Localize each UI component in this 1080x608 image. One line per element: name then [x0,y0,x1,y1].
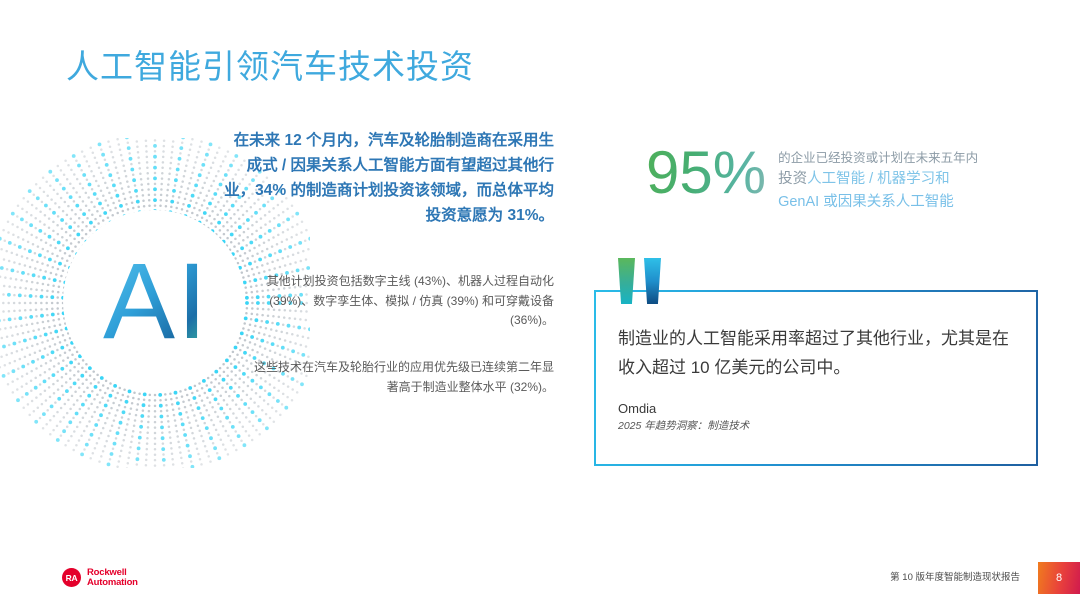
lead-paragraph: 在未来 12 个月内，汽车及轮胎制造商在采用生成式 / 因果关系人工智能方面有望… [224,128,554,228]
rockwell-automation-logo: RA Rockwell Automation [62,568,138,587]
stat-line-2-prefix: 投资 [778,171,807,187]
stat-block: 95% 的企业已经投资或计划在未来五年内 投资人工智能 / 机器学习和 GenA… [646,142,1066,213]
quote-text: 制造业的人工智能采用率超过了其他行业，尤其是在收入超过 10 亿美元的公司中。 [618,324,1018,382]
stat-line-1: 的企业已经投资或计划在未来五年内 [778,148,978,168]
slide-canvas: 人工智能引领汽车技术投资 AI 在未来 12 个月内，汽车及轮胎制造商在采用生成… [0,0,1080,608]
quote-card: 制造业的人工智能采用率超过了其他行业，尤其是在收入超过 10 亿美元的公司中。 … [594,290,1038,466]
quotation-bar-right [644,258,661,304]
footer-caption: 第 10 版年度智能制造现状报告 [890,569,1020,583]
quote-source-name: Omdia [618,400,749,418]
quotation-mark-icon [618,258,674,304]
stat-line-3: GenAI 或因果关系人工智能 [778,191,978,214]
stat-value: 95% [646,142,778,204]
ai-core-circle: AI [63,210,245,392]
sub-paragraph-2: 这些技术在汽车及轮胎行业的应用优先级已连续第二年显著高于制造业整体水平 (32%… [254,358,554,397]
quote-source: Omdia 2025 年趋势洞察：制造技术 [618,400,749,434]
logo-wordmark: Rockwell Automation [87,568,138,587]
page-number-badge: 8 [1038,562,1080,594]
page-title: 人工智能引领汽车技术投资 [66,40,474,88]
logo-word-automation: Automation [87,578,138,588]
stat-line-2-accent: 人工智能 / 机器学习和 [807,171,950,187]
sub-paragraph-1: 其他计划投资包括数字主线 (43%)、机器人过程自动化 (39%)、数字孪生体、… [254,272,554,331]
stat-line-2: 投资人工智能 / 机器学习和 [778,168,978,191]
quotation-bar-left [618,258,635,304]
quote-source-detail: 2025 年趋势洞察：制造技术 [618,418,749,434]
ai-letters: AI [99,247,209,355]
stat-text: 的企业已经投资或计划在未来五年内 投资人工智能 / 机器学习和 GenAI 或因… [778,142,978,213]
ra-badge-icon: RA [62,568,81,587]
